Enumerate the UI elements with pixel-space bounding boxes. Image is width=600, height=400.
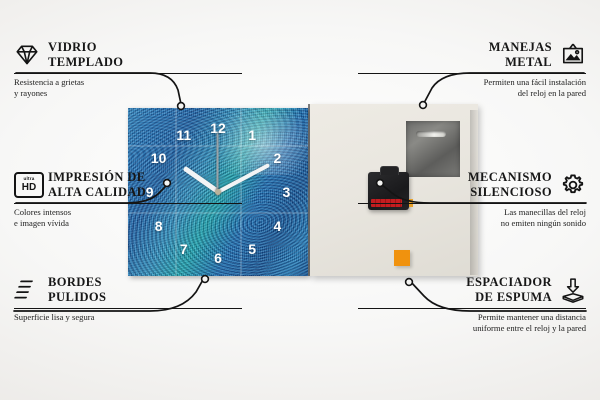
feature-header: BORDES PULIDOS xyxy=(14,275,242,305)
feature-desc-line1: Resistencia a grietas xyxy=(14,77,84,87)
feature-desc-line2: uniforme entre el reloj y la pared xyxy=(473,323,586,333)
feature-header: VIDRIO TEMPLADO xyxy=(14,40,242,70)
feature-description: Permiten una fácil instalación del reloj… xyxy=(358,77,586,99)
wire-endpoint-vidrio xyxy=(178,103,185,110)
hd-label: HD xyxy=(22,183,36,193)
feature-title: VIDRIO TEMPLADO xyxy=(48,40,123,70)
wire-endpoint-manejas xyxy=(420,102,427,109)
feature-title-line1: ESPACIADOR xyxy=(466,275,552,289)
feature-title-line2: METAL xyxy=(505,55,552,69)
feature-desc-line2: no emiten ningún sonido xyxy=(501,218,586,228)
feature-desc-line2: del reloj en la pared xyxy=(518,88,586,98)
feature-desc-line2: y rayones xyxy=(14,88,47,98)
ultra-hd-box: ultra HD xyxy=(14,172,44,198)
feature-desc-line1: Colores intensos xyxy=(14,207,71,217)
ultra-label: ultra xyxy=(24,177,35,182)
feature-divider xyxy=(358,308,586,309)
feature-header: ultra HD IMPRESIÓN DE ALTA CALIDAD xyxy=(14,170,242,200)
gear-icon xyxy=(560,172,586,198)
picture-hanger-icon xyxy=(560,42,586,68)
feature-desc-line1: Las manecillas del reloj xyxy=(504,207,586,217)
feature-title-line2: ALTA CALIDAD xyxy=(48,185,146,199)
feature-divider xyxy=(14,73,242,74)
polished-edges-icon xyxy=(14,277,40,303)
feature-title: IMPRESIÓN DE ALTA CALIDAD xyxy=(48,170,146,200)
feature-manejas-metal: MANEJAS METAL Permiten una fácil instala… xyxy=(358,40,586,99)
diamond-icon xyxy=(14,42,40,68)
feature-description: Superficie lisa y segura xyxy=(14,312,242,323)
feature-desc-line1: Permiten una fácil instalación xyxy=(484,77,586,87)
feature-description: Colores intensos e imagen vívida xyxy=(14,207,242,229)
feature-description: Permite mantener una distancia uniforme … xyxy=(358,312,586,334)
feature-divider xyxy=(358,203,586,204)
feature-title-line1: VIDRIO xyxy=(48,40,97,54)
feature-desc-line1: Permite mantener una distancia xyxy=(478,312,586,322)
feature-title: MECANISMO SILENCIOSO xyxy=(468,170,552,200)
feature-header: ESPACIADOR DE ESPUMA xyxy=(358,275,586,305)
feature-header: MECANISMO SILENCIOSO xyxy=(358,170,586,200)
feature-divider xyxy=(14,203,242,204)
feature-description: Resistencia a grietas y rayones xyxy=(14,77,242,99)
feature-desc-line2: e imagen vívida xyxy=(14,218,69,228)
feature-divider xyxy=(14,308,242,309)
feature-title: MANEJAS METAL xyxy=(489,40,552,70)
feature-title-line2: DE ESPUMA xyxy=(475,290,552,304)
foam-spacer-icon xyxy=(560,277,586,303)
feature-title-line2: TEMPLADO xyxy=(48,55,123,69)
feature-title: ESPACIADOR DE ESPUMA xyxy=(466,275,552,305)
feature-title-line2: PULIDOS xyxy=(48,290,106,304)
feature-title-line1: BORDES xyxy=(48,275,102,289)
feature-title-line1: MECANISMO xyxy=(468,170,552,184)
feature-title-line1: MANEJAS xyxy=(489,40,552,54)
feature-title: BORDES PULIDOS xyxy=(48,275,106,305)
feature-desc-line1: Superficie lisa y segura xyxy=(14,312,94,322)
feature-vidrio-templado: VIDRIO TEMPLADO Resistencia a grietas y … xyxy=(14,40,242,99)
feature-impresion-alta-calidad: ultra HD IMPRESIÓN DE ALTA CALIDAD Color… xyxy=(14,170,242,229)
feature-divider xyxy=(358,73,586,74)
feature-bordes-pulidos: BORDES PULIDOS Superficie lisa y segura xyxy=(14,275,242,323)
feature-description: Las manecillas del reloj no emiten ningú… xyxy=(358,207,586,229)
feature-mecanismo-silencioso: MECANISMO SILENCIOSO Las manecillas del … xyxy=(358,170,586,229)
feature-espaciador-espuma: ESPACIADOR DE ESPUMA Permite mantener un… xyxy=(358,275,586,334)
feature-title-line2: SILENCIOSO xyxy=(470,185,552,199)
ultra-hd-icon: ultra HD xyxy=(14,172,40,198)
feature-title-line1: IMPRESIÓN DE xyxy=(48,170,146,184)
feature-header: MANEJAS METAL xyxy=(358,40,586,70)
infographic-canvas: 12 1 2 3 4 5 6 7 8 9 10 11 xyxy=(0,0,600,400)
